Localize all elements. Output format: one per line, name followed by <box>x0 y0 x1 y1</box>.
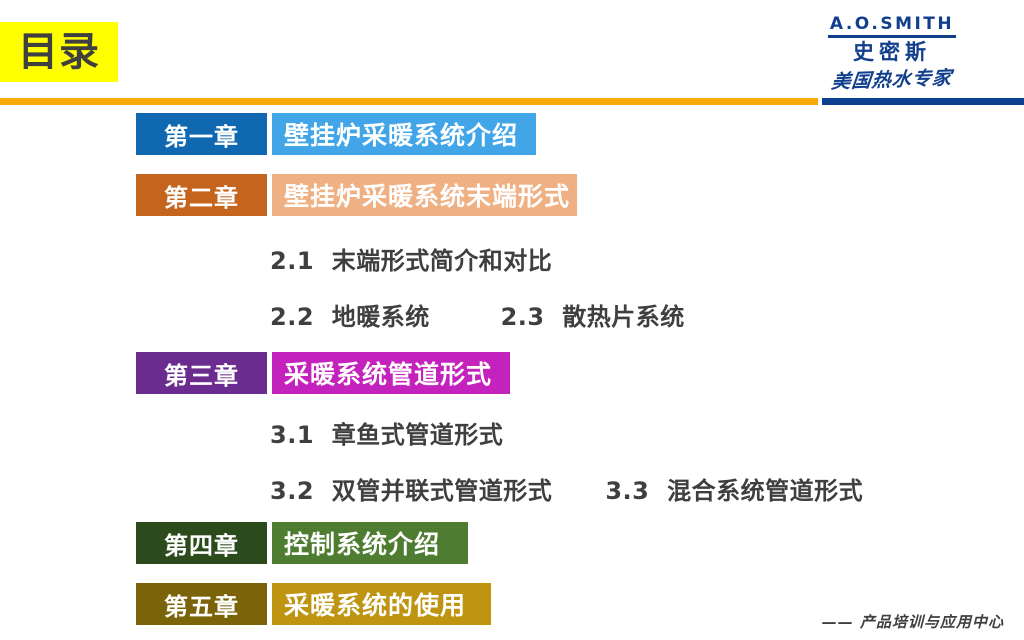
chapter-title-5: 采暖系统的使用 <box>272 583 491 625</box>
toc-sub-item[interactable]: 3.1 章鱼式管道形式 <box>270 415 503 450</box>
chapter-title-3: 采暖系统管道形式 <box>272 352 510 394</box>
chapter-title-4: 控制系统介绍 <box>272 522 468 564</box>
chapter-tag-5: 第五章 <box>136 583 267 625</box>
footer-note: —— 产品培训与应用中心 <box>822 611 1004 632</box>
page-title: 目录 <box>18 32 100 72</box>
toc-sub-item[interactable]: 3.2 双管并联式管道形式 3.3 混合系统管道形式 <box>270 471 863 506</box>
brand-name-en: A.O.SMITH <box>828 16 956 38</box>
chapter-row-4[interactable]: 第四章控制系统介绍 <box>136 522 468 564</box>
chapter-tag-2: 第二章 <box>136 174 267 216</box>
brand-name-cn: 史密斯 <box>782 40 1002 64</box>
chapter-title-2: 壁挂炉采暖系统末端形式 <box>272 174 577 216</box>
brand-slogan: 美国热水专家 <box>780 61 1004 96</box>
page-title-box: 目录 <box>0 22 118 82</box>
slide-header: 目录 A.O.SMITH 史密斯 美国热水专家 <box>0 0 1024 105</box>
chapter-row-5[interactable]: 第五章采暖系统的使用 <box>136 583 491 625</box>
toc-sub-item[interactable]: 2.2 地暖系统 2.3 散热片系统 <box>270 297 685 332</box>
brand-logo: A.O.SMITH 史密斯 美国热水专家 <box>782 16 1002 92</box>
chapter-tag-1: 第一章 <box>136 113 267 155</box>
chapter-tag-3: 第三章 <box>136 352 267 394</box>
chapter-title-1: 壁挂炉采暖系统介绍 <box>272 113 536 155</box>
chapter-row-2[interactable]: 第二章壁挂炉采暖系统末端形式 <box>136 174 577 216</box>
toc-sub-item[interactable]: 2.1 末端形式简介和对比 <box>270 241 552 276</box>
chapter-row-1[interactable]: 第一章壁挂炉采暖系统介绍 <box>136 113 536 155</box>
header-rule-orange <box>0 98 818 105</box>
table-of-contents: 第一章壁挂炉采暖系统介绍第二章壁挂炉采暖系统末端形式第三章采暖系统管道形式第四章… <box>0 105 1024 640</box>
chapter-tag-4: 第四章 <box>136 522 267 564</box>
header-rule-navy <box>822 98 1024 105</box>
chapter-row-3[interactable]: 第三章采暖系统管道形式 <box>136 352 510 394</box>
